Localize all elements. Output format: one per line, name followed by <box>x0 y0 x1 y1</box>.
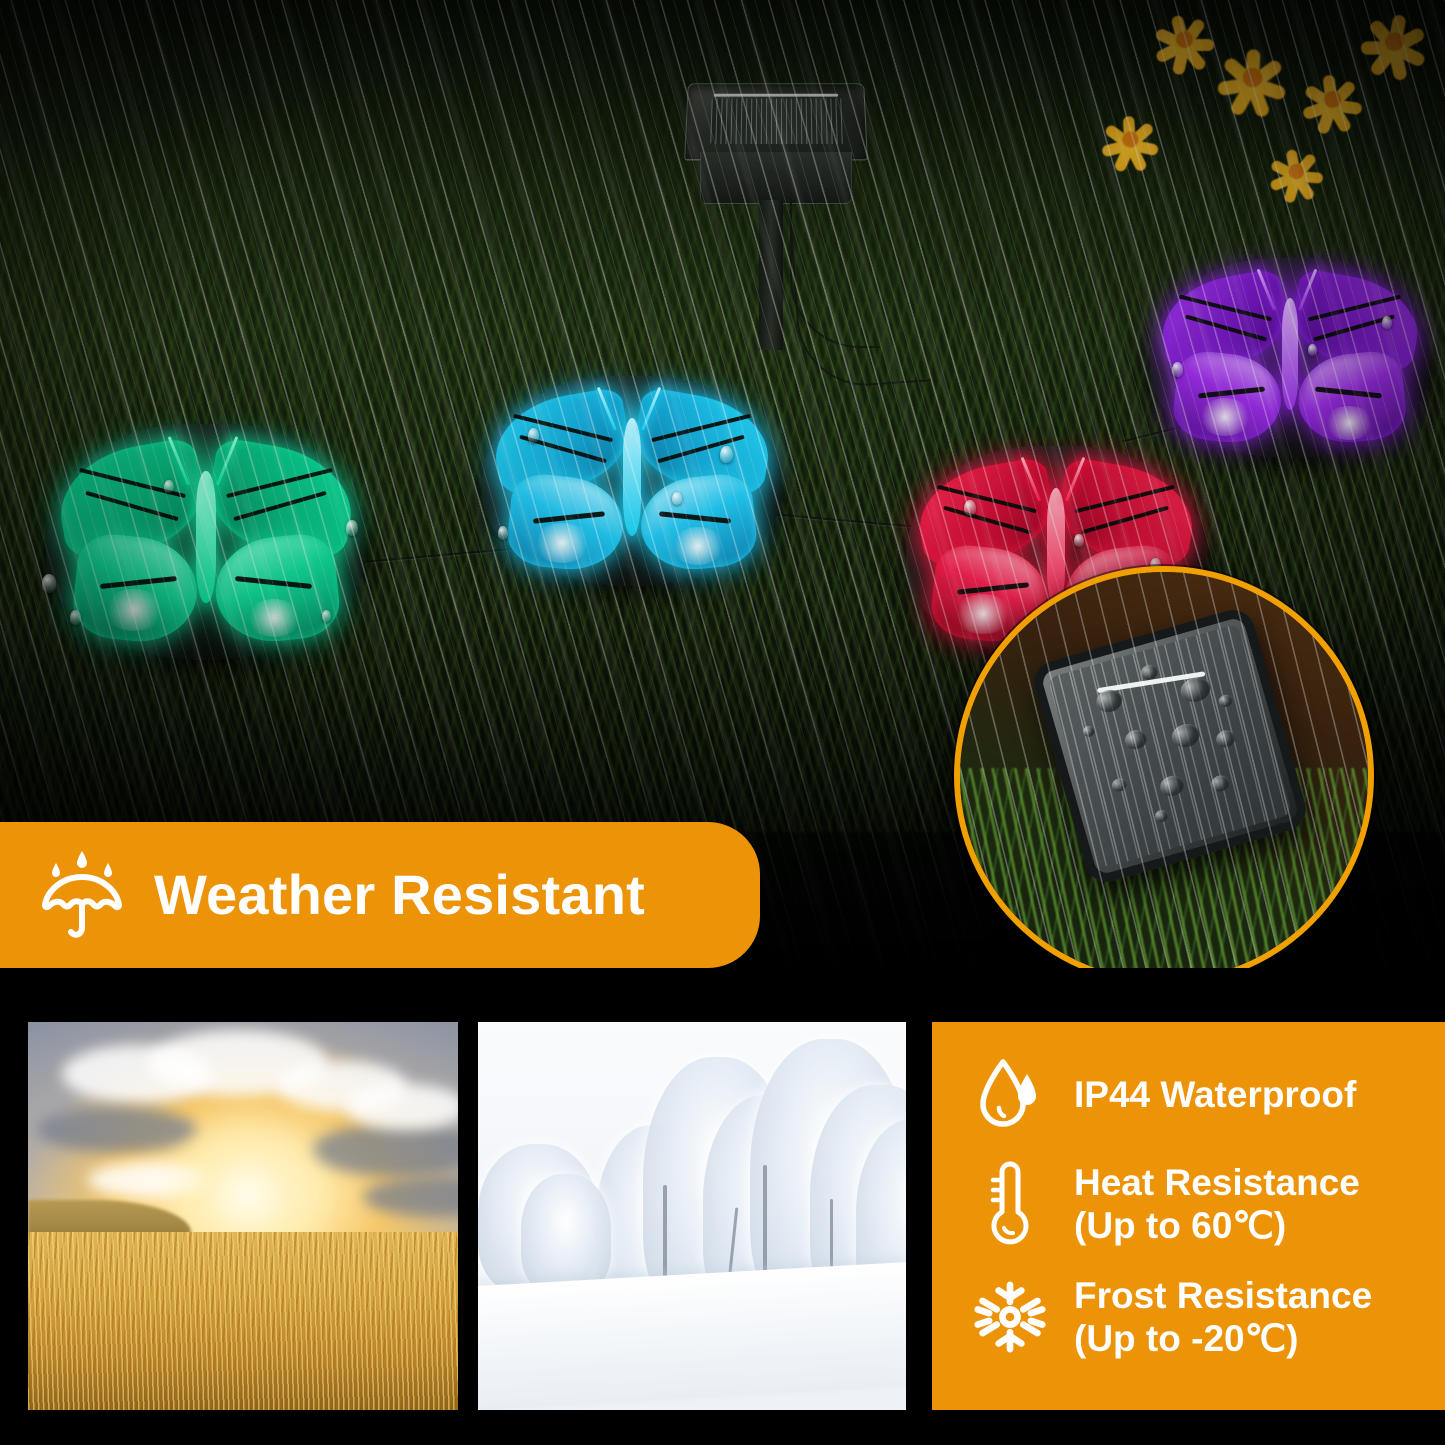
feature-ip44-waterproof: IP44 Waterproof <box>974 1056 1445 1134</box>
sunny-wheat-field-photo <box>28 1022 458 1410</box>
snowy-forest-photo <box>478 1022 906 1410</box>
wheat-field <box>28 1232 458 1410</box>
snow-ground <box>478 1262 906 1410</box>
snow-tree-left2 <box>521 1174 611 1294</box>
umbrella-rain-icon <box>36 847 128 943</box>
feature-heat-resistance: Heat Resistance (Up to 60℃) <box>974 1160 1445 1248</box>
inset-rain-streaks <box>954 566 1374 968</box>
waterproof-solar-panel-closeup <box>954 566 1374 968</box>
features-panel: IP44 Waterproof Heat Resistance (Up to 6… <box>932 1022 1445 1410</box>
thermometer-icon <box>974 1160 1046 1248</box>
feature-label: IP44 Waterproof <box>1074 1073 1356 1116</box>
snowflake-icon <box>974 1279 1046 1355</box>
water-drop-icon <box>974 1056 1046 1134</box>
feature-label: Frost Resistance (Up to -20℃) <box>1074 1274 1372 1361</box>
weather-resistant-banner: Weather Resistant <box>0 822 760 968</box>
feature-label: Heat Resistance (Up to 60℃) <box>1074 1161 1360 1248</box>
feature-frost-resistance: Frost Resistance (Up to -20℃) <box>974 1274 1445 1361</box>
banner-label: Weather Resistant <box>154 867 645 923</box>
